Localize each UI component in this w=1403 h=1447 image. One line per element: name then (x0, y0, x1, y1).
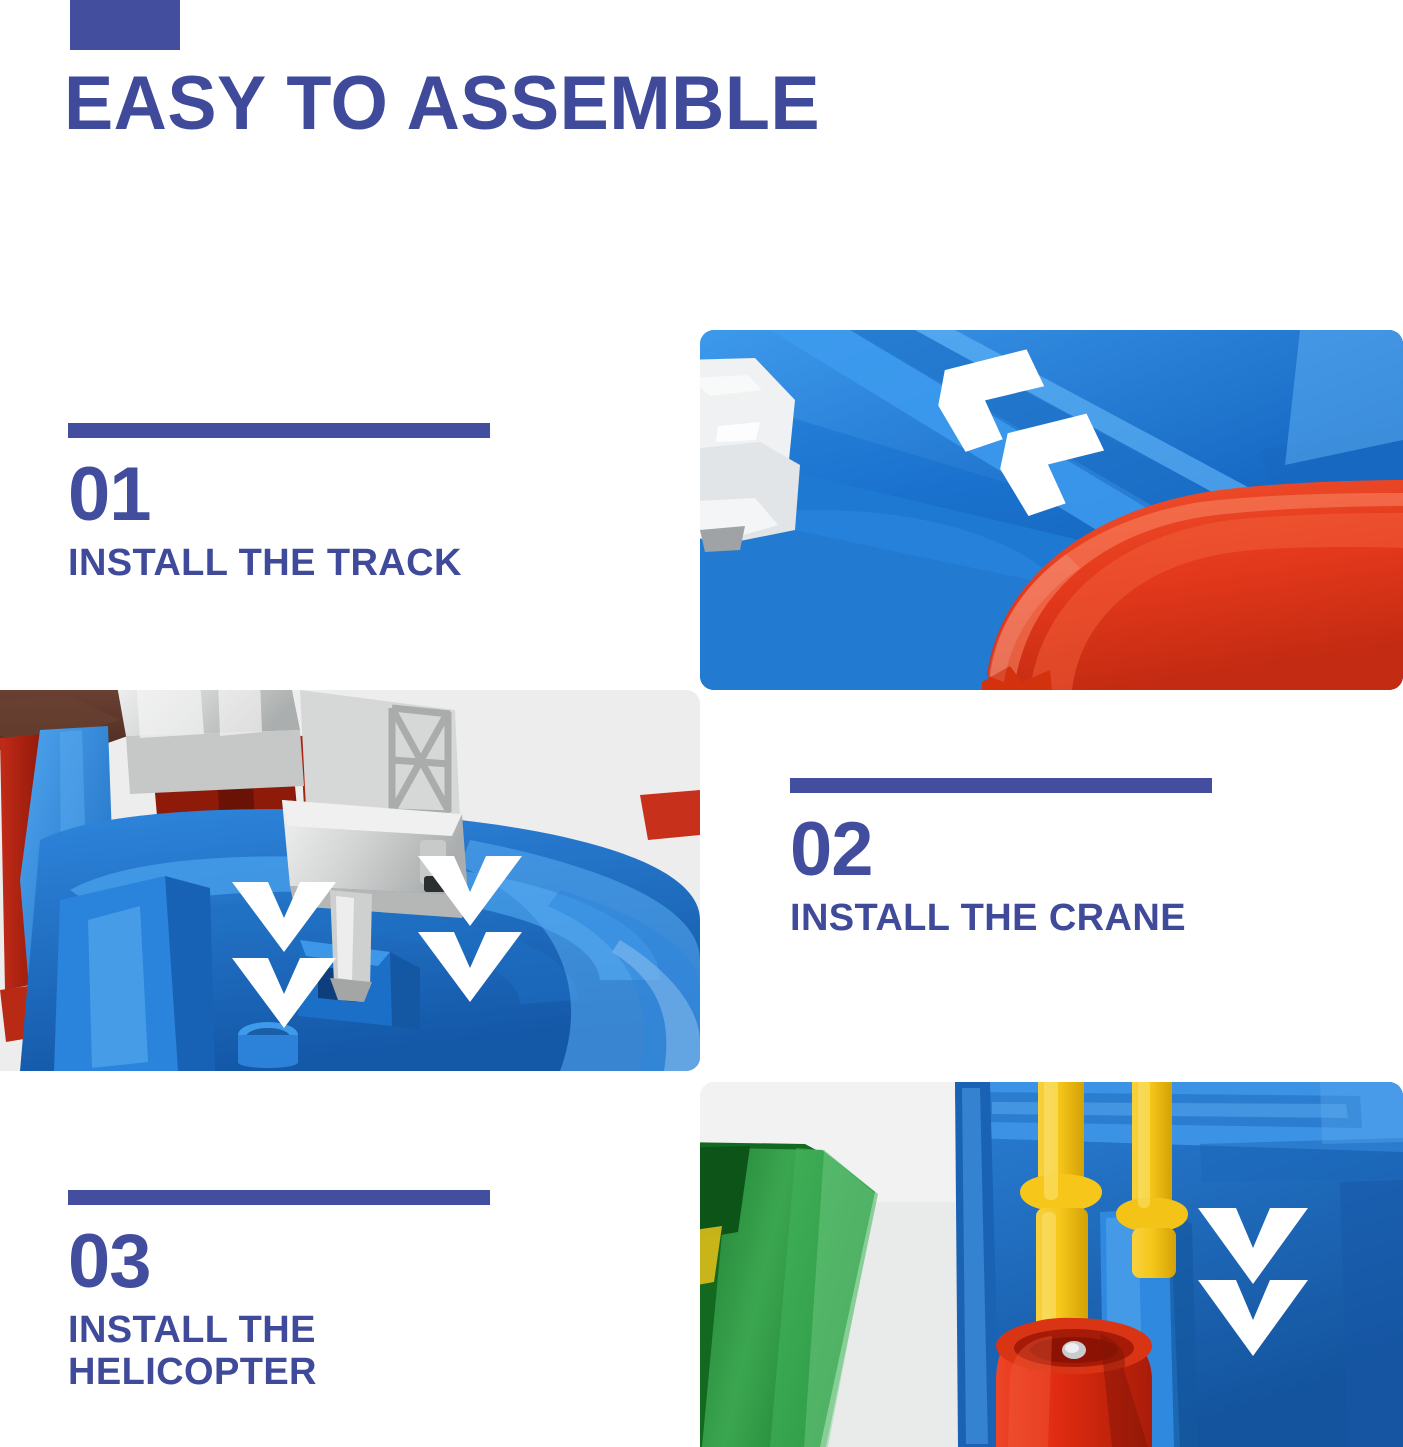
accent-square-decoration (70, 0, 180, 50)
photo-install-helicopter (700, 1082, 1403, 1447)
step-block-03: 03 INSTALL THE HELICOPTER (68, 1190, 490, 1394)
step-label-03: INSTALL THE HELICOPTER (68, 1309, 490, 1394)
step-number-02: 02 (790, 815, 1212, 885)
peg-hole (238, 1022, 298, 1068)
panel-step-03-install-helicopter (700, 1082, 1403, 1447)
step-rule-03 (68, 1190, 490, 1205)
step-rule-02 (790, 778, 1212, 793)
step-label-01: INSTALL THE TRACK (68, 542, 490, 585)
easy-to-assemble-infographic: EASY TO ASSEMBLE (0, 0, 1403, 1447)
step-block-01: 01 INSTALL THE TRACK (68, 423, 490, 584)
page-title: EASY TO ASSEMBLE (64, 66, 820, 142)
photo-install-crane (0, 690, 700, 1071)
step-label-02: INSTALL THE CRANE (790, 897, 1212, 940)
step-number-01: 01 (68, 460, 490, 530)
red-cylinder (996, 1318, 1152, 1447)
step-rule-01 (68, 423, 490, 438)
photo-install-track (700, 330, 1403, 690)
panel-step-01-install-track (700, 330, 1403, 690)
step-number-03: 03 (68, 1227, 490, 1297)
step-block-02: 02 INSTALL THE CRANE (790, 778, 1212, 939)
panel-step-02-install-crane (0, 690, 700, 1071)
